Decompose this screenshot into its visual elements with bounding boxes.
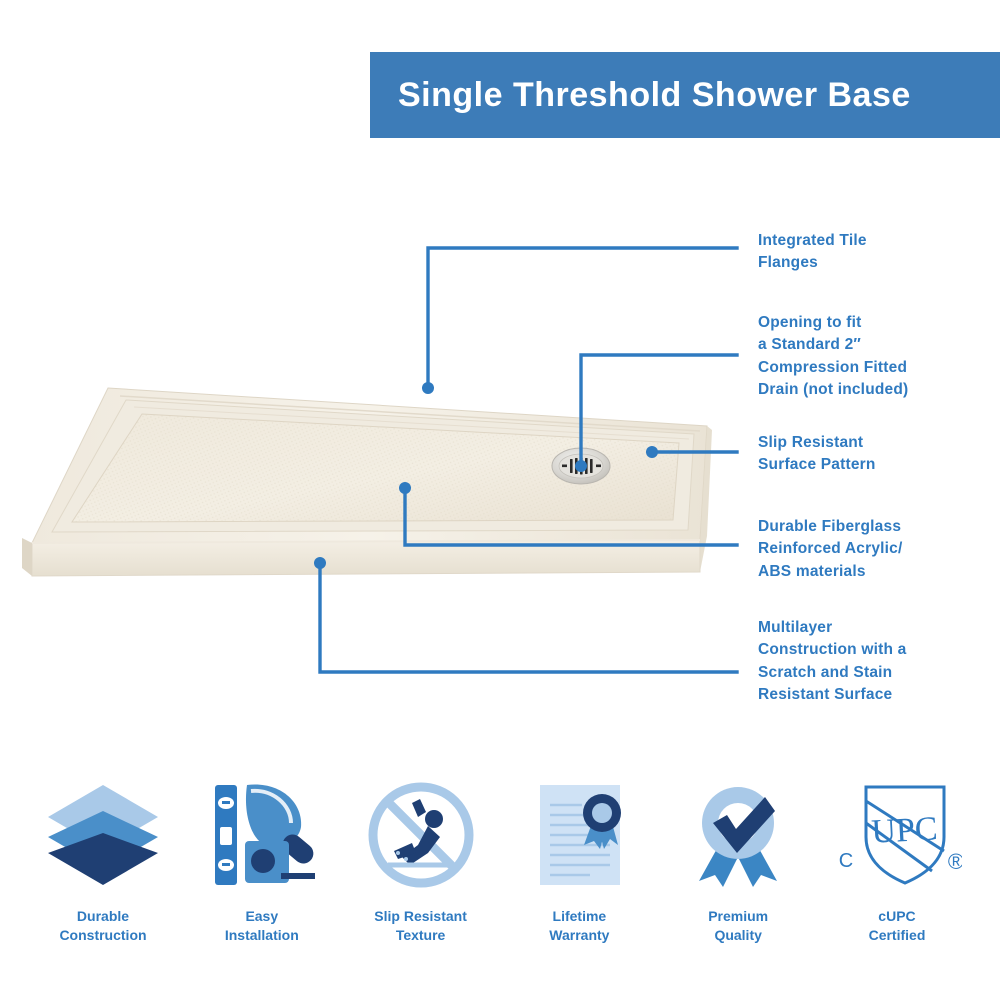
feature-cupc-certified: UPC C ® cUPC Certified <box>822 775 972 945</box>
certificate-icon <box>520 775 638 895</box>
feature-lifetime-warranty: Lifetime Warranty <box>504 775 654 945</box>
feature-label: Slip Resistant Texture <box>374 907 467 945</box>
feature-label: Easy Installation <box>225 907 299 945</box>
ribbon-check-icon <box>679 775 797 895</box>
shower-base-illustration <box>0 360 740 610</box>
callout-integrated-tile-flanges: Integrated Tile Flanges <box>758 230 867 275</box>
level-trowel-icon <box>203 775 321 895</box>
cupc-registered-mark: ® <box>948 849 962 874</box>
feature-label: cUPC Certified <box>869 907 926 945</box>
layers-icon <box>44 775 162 895</box>
callout-slip-resistant-surface-pattern: Slip Resistant Surface Pattern <box>758 432 876 477</box>
feature-durable-construction: Durable Construction <box>28 775 178 945</box>
cupc-shield-icon: UPC C ® <box>832 775 962 895</box>
callout-durable-fiberglass-material: Durable Fiberglass Reinforced Acrylic/ A… <box>758 516 903 583</box>
feature-label: Premium Quality <box>708 907 768 945</box>
callout-multilayer-construction: Multilayer Construction with a Scratch a… <box>758 617 906 707</box>
page-title-bar: Single Threshold Shower Base <box>370 52 1000 138</box>
callout-drain-opening: Opening to fit a Standard 2″ Compression… <box>758 312 908 402</box>
drain-grate <box>552 448 610 484</box>
feature-easy-installation: Easy Installation <box>187 775 337 945</box>
feature-badge-row: Durable Construction <box>0 775 1000 975</box>
slip-warning-icon <box>362 775 480 895</box>
infographic-canvas: Single Threshold Shower Base <box>0 0 1000 1000</box>
feature-label: Durable Construction <box>59 907 146 945</box>
feature-slip-resistant-texture: Slip Resistant Texture <box>346 775 496 945</box>
page-title: Single Threshold Shower Base <box>370 76 911 115</box>
cupc-left-mark: C <box>839 850 853 872</box>
cupc-shield-text: UPC <box>870 810 938 850</box>
feature-label: Lifetime Warranty <box>549 907 609 945</box>
feature-premium-quality: Premium Quality <box>663 775 813 945</box>
